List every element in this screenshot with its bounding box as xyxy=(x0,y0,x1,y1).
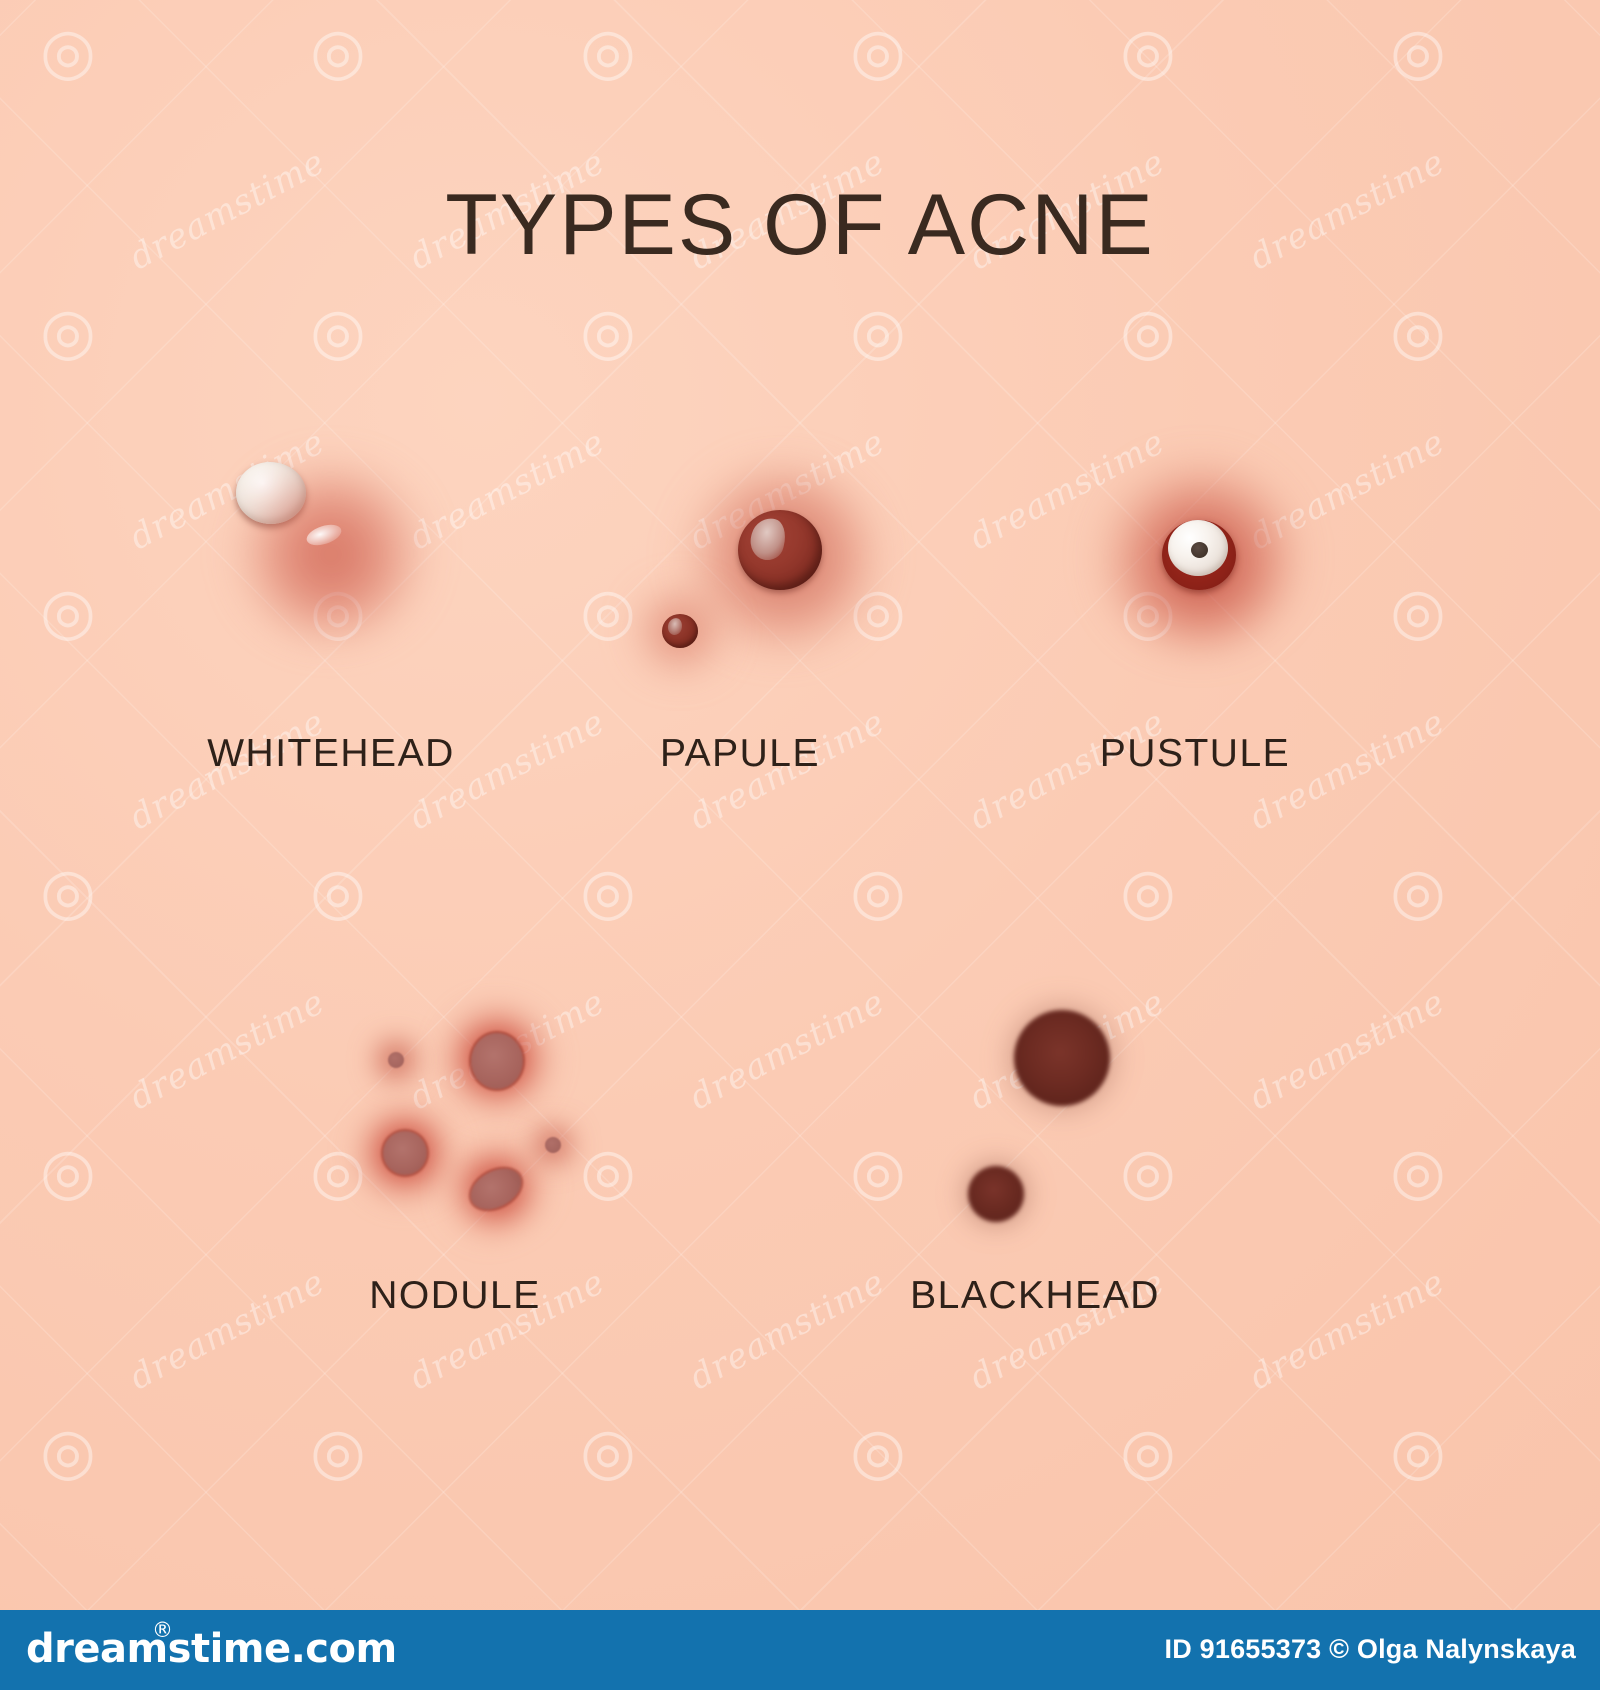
watermark-spiral-icon: ◎ xyxy=(40,300,96,364)
watermark-spiral-icon: ◎ xyxy=(1390,1420,1446,1484)
nodule-core-4 xyxy=(388,1052,404,1068)
pustule-core-dot xyxy=(1191,542,1208,558)
watermark-spiral-icon: ◎ xyxy=(1120,860,1176,924)
watermark-spiral-icon: ◎ xyxy=(40,20,96,84)
lesion-nodule xyxy=(355,995,615,1225)
watermark-text: dreamstime xyxy=(1243,982,1452,1118)
lesion-label-papule: PAPULE xyxy=(480,732,1000,776)
watermark-spiral-icon: ◎ xyxy=(580,860,636,924)
lesion-whitehead xyxy=(236,462,426,640)
watermark-spiral-icon: ◎ xyxy=(580,300,636,364)
watermark-spiral-icon: ◎ xyxy=(1120,300,1176,364)
watermark-spiral-icon: ◎ xyxy=(1390,300,1446,364)
lesion-papule xyxy=(634,464,878,680)
watermark-spiral-icon: ◎ xyxy=(40,580,96,644)
watermark-spiral-icon: ◎ xyxy=(580,1420,636,1484)
acne-types-infographic: ◎ ◎ ◎ ◎ ◎ ◎ ◎ ◎ ◎ ◎ ◎ ◎ ◎ ◎ ◎ ◎ ◎ ◎ ◎ ◎ … xyxy=(0,0,1600,1690)
watermark-spiral-icon: ◎ xyxy=(310,1420,366,1484)
watermark-spiral-icon: ◎ xyxy=(1120,20,1176,84)
watermark-spiral-icon: ◎ xyxy=(850,860,906,924)
dreamstime-logo[interactable]: dreamstime.com xyxy=(26,1626,397,1672)
watermark-spiral-icon: ◎ xyxy=(850,1420,906,1484)
watermark-spiral-icon: ◎ xyxy=(1120,1420,1176,1484)
watermark-spiral-icon: ◎ xyxy=(850,20,906,84)
lesion-pustule xyxy=(1100,462,1296,648)
watermark-spiral-icon: ◎ xyxy=(310,300,366,364)
nodule-core-2 xyxy=(383,1131,427,1175)
image-credit: ID 91655373 © Olga Nalynskaya xyxy=(1165,1634,1576,1665)
watermark-spiral-icon: ◎ xyxy=(40,1140,96,1204)
watermark-spiral-icon: ◎ xyxy=(580,580,636,644)
watermark-spiral-icon: ◎ xyxy=(310,860,366,924)
watermark-spiral-icon: ◎ xyxy=(40,1420,96,1484)
watermark-spiral-icon: ◎ xyxy=(40,860,96,924)
watermark-spiral-icon: ◎ xyxy=(580,20,636,84)
whitehead-inflammation-halo xyxy=(236,462,426,640)
lesion-label-pustule: PUSTULE xyxy=(935,732,1455,776)
blackhead-core-large xyxy=(1014,1010,1110,1106)
nodule-core-1 xyxy=(471,1033,523,1089)
nodule-core-5 xyxy=(545,1137,561,1153)
watermark-spiral-icon: ◎ xyxy=(310,20,366,84)
lesion-blackhead xyxy=(960,990,1140,1240)
watermark-spiral-icon: ◎ xyxy=(1390,860,1446,924)
watermark-spiral-icon: ◎ xyxy=(1390,580,1446,644)
lesion-label-nodule: NODULE xyxy=(195,1274,715,1318)
watermark-spiral-icon: ◎ xyxy=(1390,1140,1446,1204)
watermark-spiral-icon: ◎ xyxy=(850,1140,906,1204)
watermark-spiral-icon: ◎ xyxy=(1390,20,1446,84)
lesion-label-blackhead: BLACKHEAD xyxy=(775,1274,1295,1318)
watermark-spiral-icon: ◎ xyxy=(850,300,906,364)
watermark-text: dreamstime xyxy=(123,982,332,1118)
footer-bar: dreamstime.com ® ID 91655373 © Olga Naly… xyxy=(0,1610,1600,1690)
blackhead-core-small xyxy=(968,1166,1024,1222)
registered-trademark-icon: ® xyxy=(152,1618,173,1642)
watermark-text: dreamstime xyxy=(403,422,612,558)
watermark-text: dreamstime xyxy=(683,982,892,1118)
page-title: TYPES OF ACNE xyxy=(0,176,1600,275)
